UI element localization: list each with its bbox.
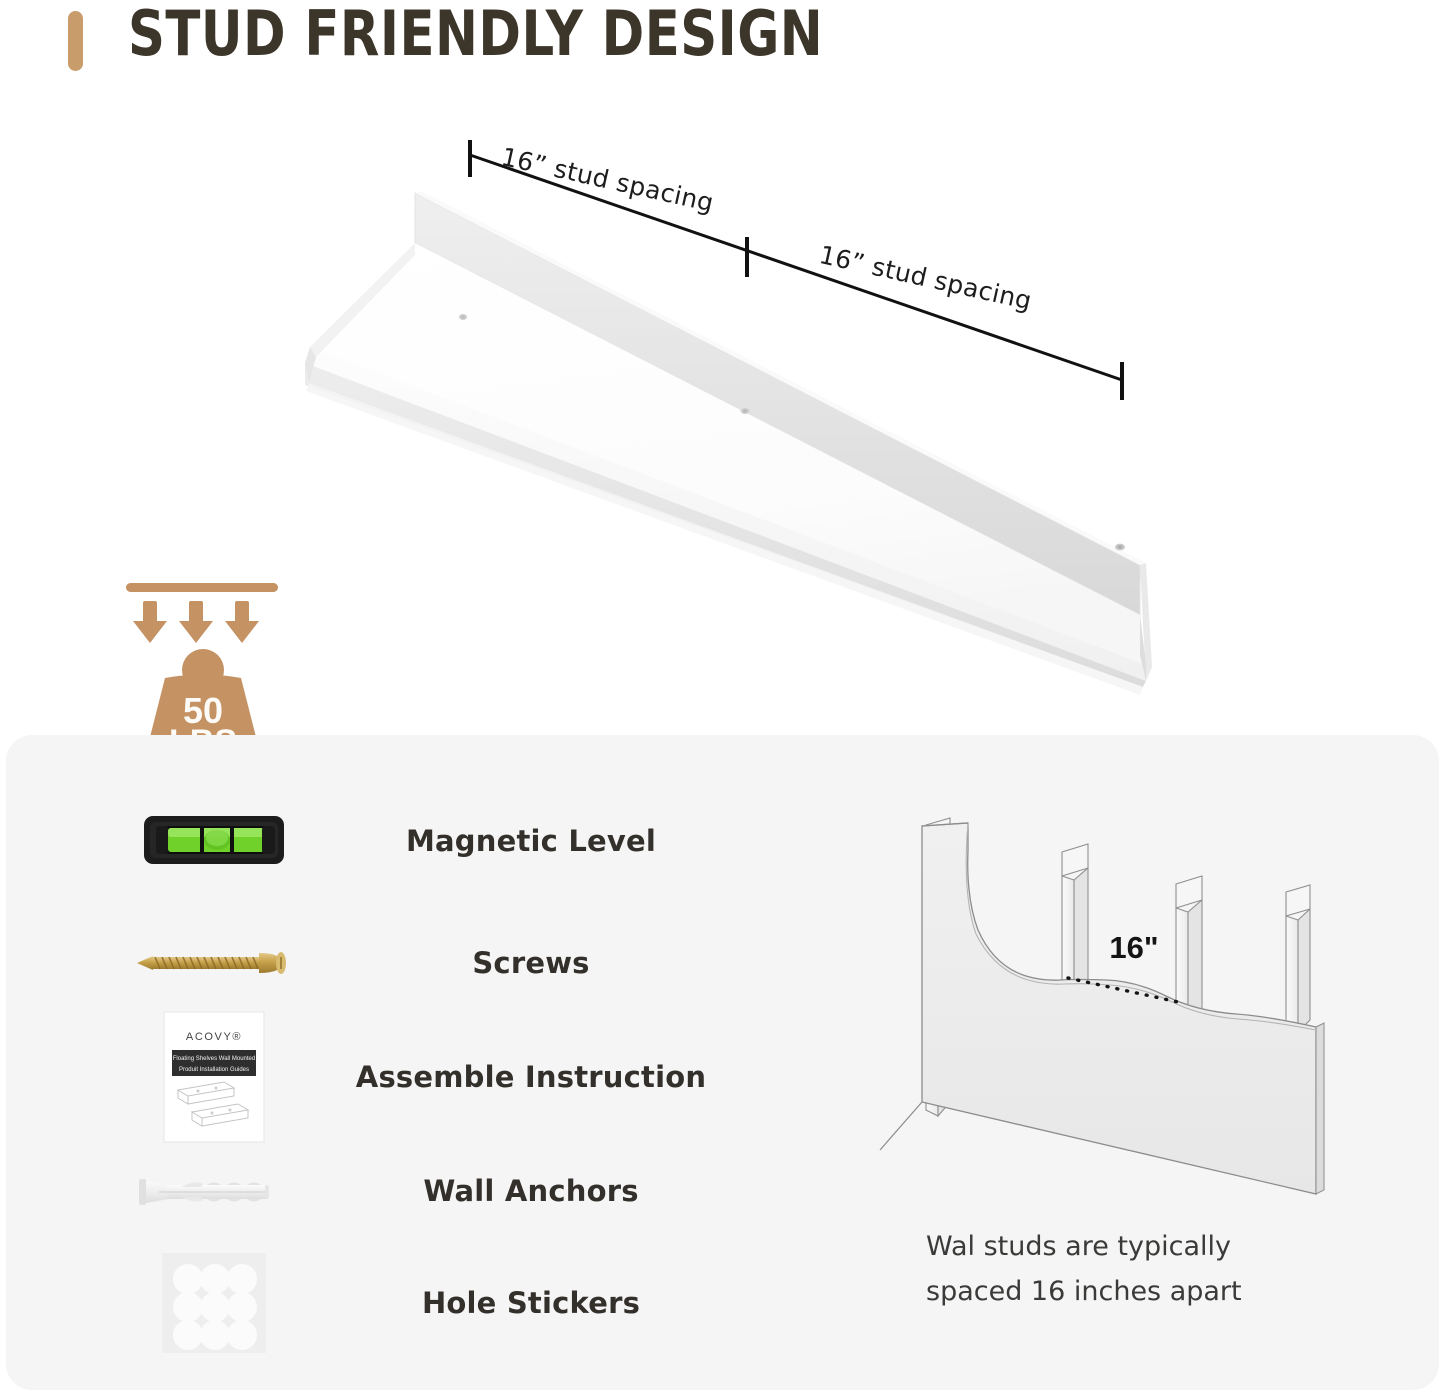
down-arrow-icon: [179, 601, 213, 643]
caption-line-2: spaced 16 inches apart: [926, 1270, 1396, 1315]
accessory-label: Magnetic Level: [316, 785, 746, 897]
load-bar-icon: [126, 583, 278, 592]
page-title: STUD FRIENDLY DESIGN: [128, 0, 823, 70]
stud-diagram-caption: Wal studs are typically spaced 16 inches…: [926, 1225, 1396, 1314]
accessory-label: Assemble Instruction: [316, 1021, 746, 1133]
screw-icon: [124, 907, 304, 1019]
caption-line-1: Wal studs are typically: [926, 1225, 1396, 1270]
accessory-label: Wall Anchors: [316, 1135, 746, 1247]
hole-stickers-icon: [124, 1247, 304, 1359]
list-item: ACOVY® Floating Shelves Wall Mounted Pro…: [6, 1021, 766, 1133]
booklet-banner-line2: Produit Installation Guides: [179, 1067, 249, 1073]
header: STUD FRIENDLY DESIGN: [0, 0, 1445, 95]
down-arrow-icon: [225, 601, 259, 643]
magnetic-level-icon: [124, 785, 304, 897]
booklet-banner-line1: Floating Shelves Wall Mounted: [173, 1056, 256, 1062]
list-item: Wall Anchors: [6, 1135, 766, 1247]
accessory-label: Screws: [316, 907, 746, 1019]
instruction-booklet-icon: ACOVY® Floating Shelves Wall Mounted Pro…: [124, 1021, 304, 1133]
stud-measure-label: 16": [1109, 930, 1158, 965]
down-arrow-icon: [133, 601, 167, 643]
booklet-brand: ACOVY®: [186, 1031, 242, 1043]
accessories-panel: Magnetic Level: [6, 735, 1439, 1390]
hero-section: 16” stud spacing 16” stud spacing: [0, 95, 1445, 720]
accessory-list: Magnetic Level: [6, 735, 766, 1390]
stud-wall-diagram: 16": [866, 790, 1346, 1210]
infographic-page: STUD FRIENDLY DESIGN: [0, 0, 1445, 1396]
accessory-label: Hole Stickers: [316, 1247, 746, 1359]
list-item: Screws: [6, 907, 766, 1019]
wall-anchor-icon: [124, 1135, 304, 1247]
list-item: Hole Stickers: [6, 1247, 766, 1359]
title-accent-bar: [68, 11, 83, 71]
list-item: Magnetic Level: [6, 785, 766, 897]
